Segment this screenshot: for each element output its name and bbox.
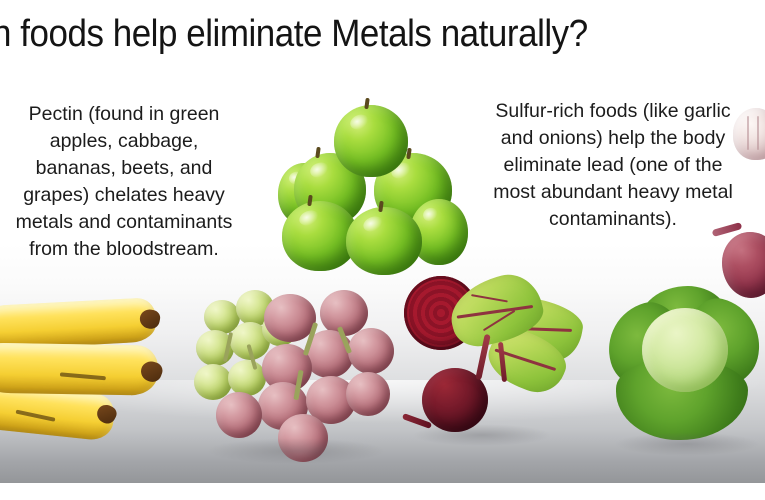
cabbage-shadow [614, 432, 760, 456]
cabbage-image [608, 282, 760, 452]
grape-red [348, 328, 394, 374]
banana-tip [138, 308, 161, 330]
banana [0, 342, 158, 395]
beets-shadow [412, 424, 552, 446]
left-text-block: Pectin (found in green apples, cabbage, … [8, 101, 240, 263]
slide-canvas: n foods help eliminate Metals naturally?… [0, 0, 765, 500]
banana-tip [94, 402, 119, 427]
apple [346, 207, 422, 275]
grapes-shadow [206, 438, 386, 464]
banana-tip [138, 359, 164, 385]
cabbage-head [642, 308, 728, 392]
right-text-block: Sulfur-rich foods (like garlic and onion… [493, 98, 733, 233]
bananas-image [0, 300, 174, 440]
grape-red [346, 372, 390, 416]
grape-green [228, 360, 266, 396]
red-onion-image [718, 222, 765, 300]
apple [334, 105, 408, 177]
grape-red [216, 392, 262, 438]
green-apples-image [278, 105, 473, 270]
garlic-image [733, 108, 765, 164]
onion-bulb [722, 232, 765, 298]
page-title: n foods help eliminate Metals naturally? [0, 12, 636, 56]
bottom-white-strip [0, 483, 765, 500]
garlic-bulb [733, 108, 765, 160]
